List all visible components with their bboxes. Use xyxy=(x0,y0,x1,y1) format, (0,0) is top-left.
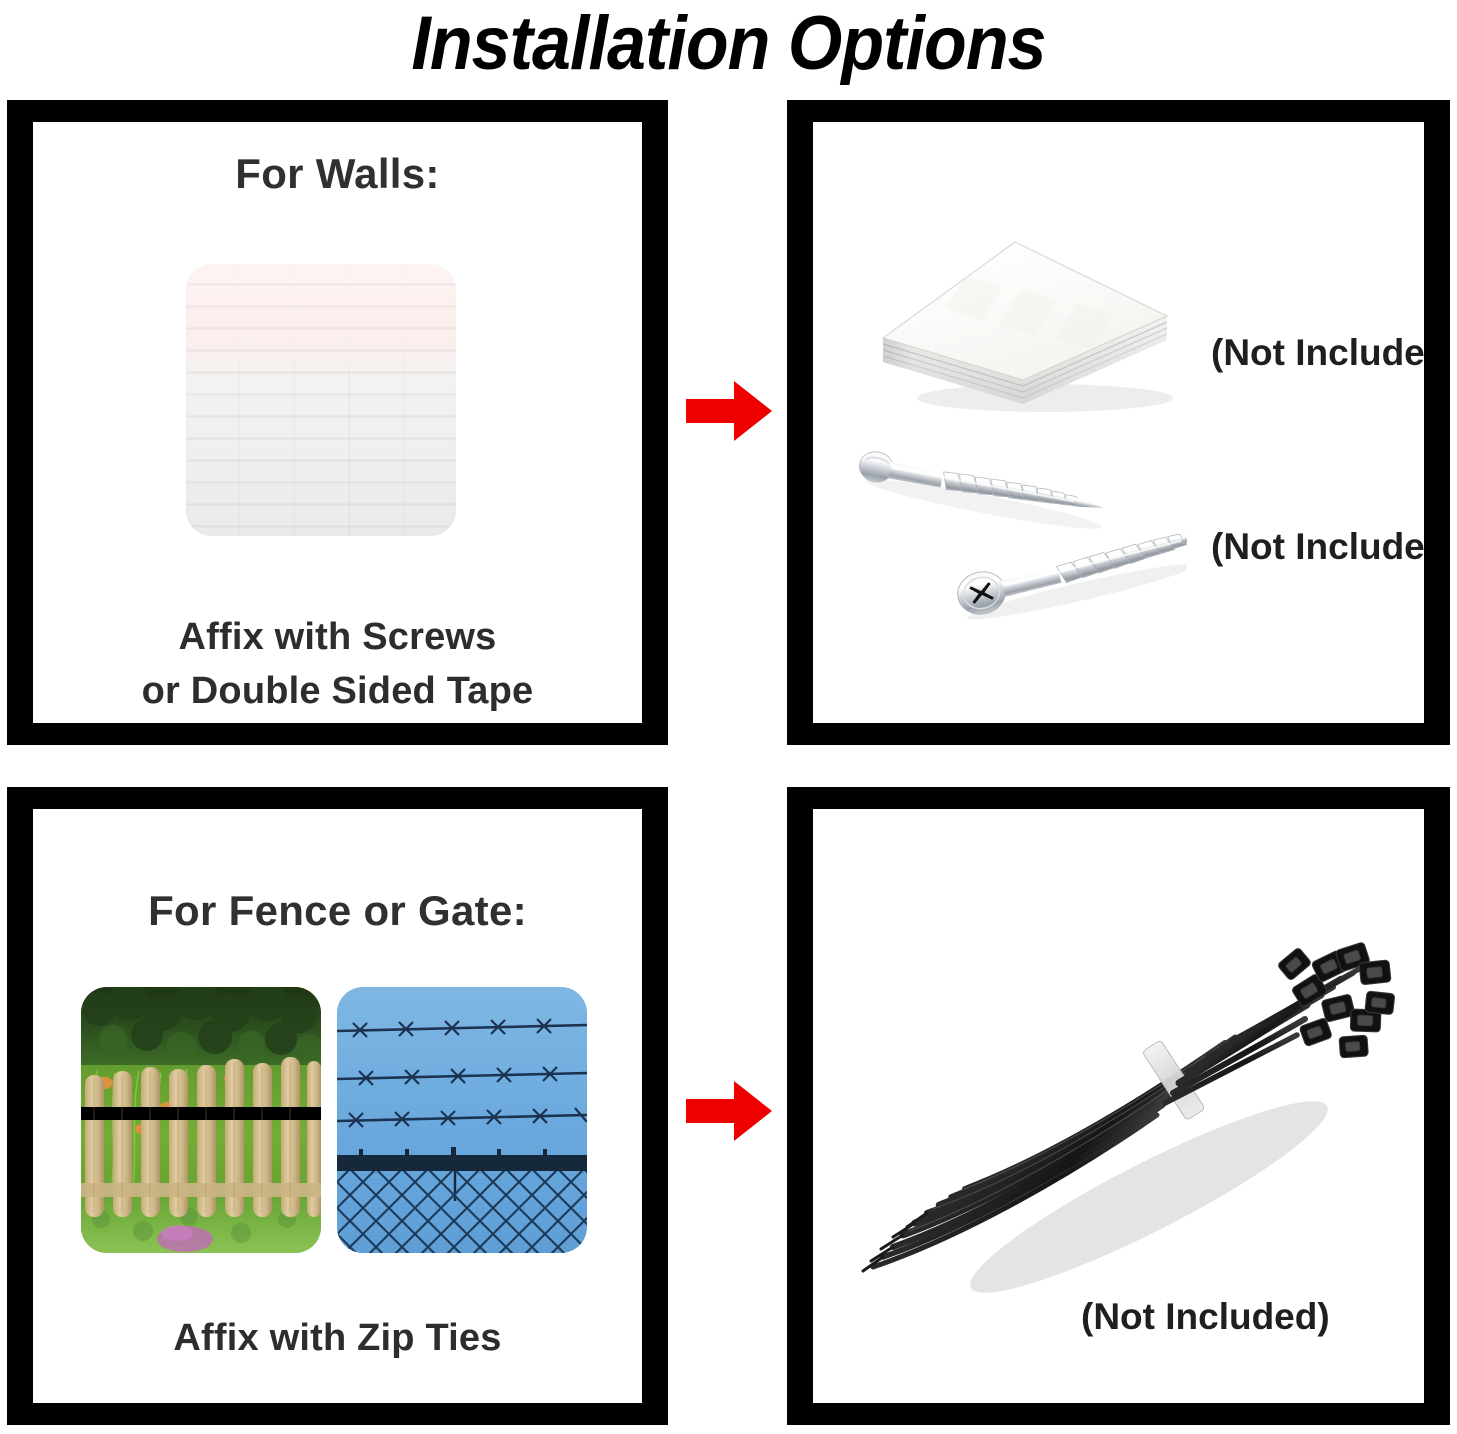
panel-fence-hardware-content: (Not Included) xyxy=(813,809,1424,1403)
for-walls-heading: For Walls: xyxy=(33,150,642,198)
black-zip-ties-bundle-image xyxy=(859,917,1395,1307)
white-brick-wall-image xyxy=(186,264,456,536)
red-right-arrow-bottom xyxy=(684,1078,774,1144)
panel-wall-hardware-content: (Not Included) xyxy=(813,122,1424,723)
panel-for-walls-content: For Walls: Affix with Screws or Double S… xyxy=(33,122,642,723)
for-walls-caption-line1: Affix with Screws xyxy=(33,616,642,659)
page-title: Installation Options xyxy=(58,0,1398,90)
wood-screws-image xyxy=(857,434,1187,694)
panel-for-fence-content: For Fence or Gate: xyxy=(33,809,642,1403)
chain-link-barbed-wire-fence-photo xyxy=(337,987,587,1253)
for-fence-heading: For Fence or Gate: xyxy=(33,887,642,935)
for-fence-caption: Affix with Zip Ties xyxy=(33,1317,642,1360)
panel-for-walls: For Walls: Affix with Screws or Double S… xyxy=(7,100,668,745)
double-sided-tape-stack-image xyxy=(875,230,1190,420)
zip-ties-not-included-label: (Not Included) xyxy=(1081,1296,1330,1338)
panel-wall-hardware: (Not Included) xyxy=(787,100,1450,745)
red-right-arrow-top xyxy=(684,378,774,444)
for-walls-caption-line2: or Double Sided Tape xyxy=(33,670,642,713)
panel-fence-hardware: (Not Included) xyxy=(787,787,1450,1425)
tape-not-included-label: (Not Included) xyxy=(1211,332,1424,374)
panel-for-fence-or-gate: For Fence or Gate: xyxy=(7,787,668,1425)
screws-not-included-label: (Not Included) xyxy=(1211,526,1424,568)
wooden-picket-fence-photo xyxy=(81,987,321,1253)
